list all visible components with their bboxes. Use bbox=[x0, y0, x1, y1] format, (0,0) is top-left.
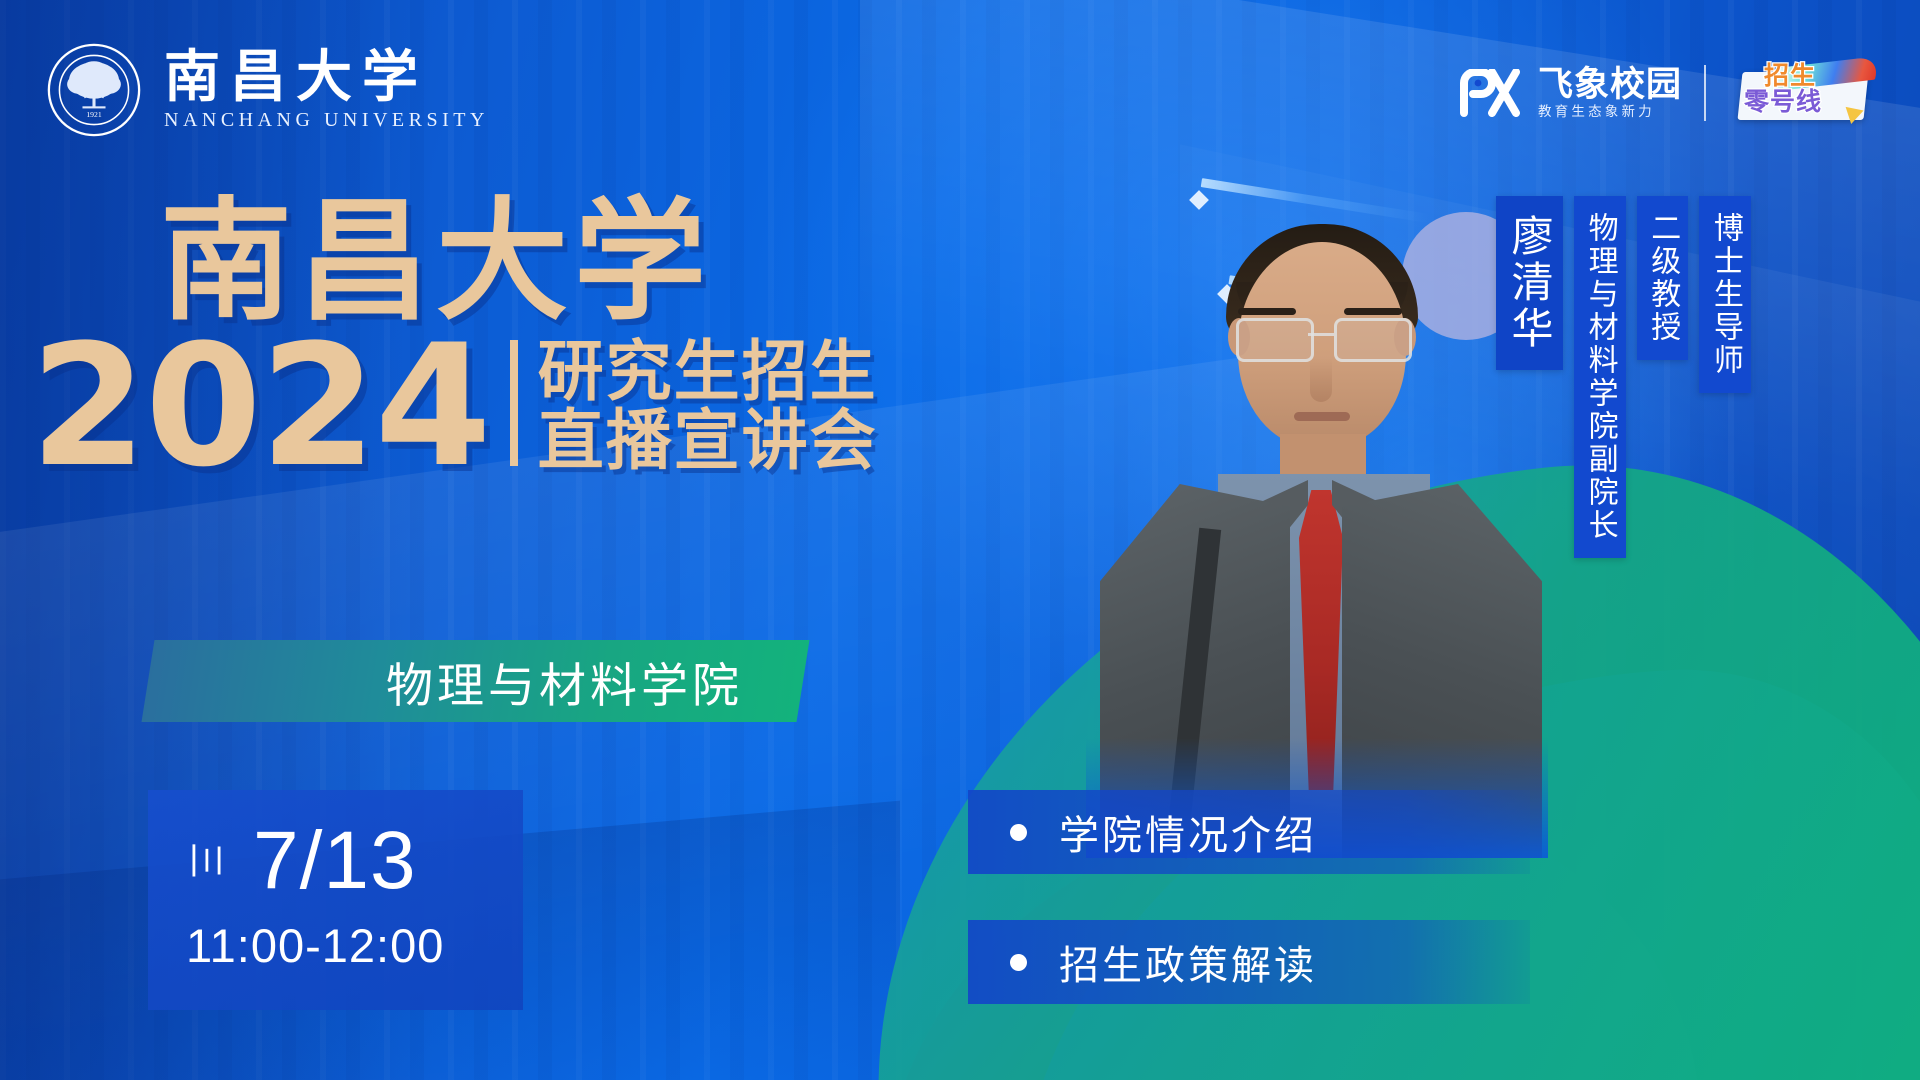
logo-divider bbox=[1704, 65, 1706, 121]
feixiang-name: 飞象校园 bbox=[1538, 67, 1682, 102]
feixiang-logo: 飞象校园 教育生态象新力 bbox=[1454, 67, 1682, 119]
speaker-name-tag: 廖清华 bbox=[1496, 196, 1563, 370]
feixiang-tagline: 教育生态象新力 bbox=[1538, 105, 1655, 119]
schedule-date-row: 三 7/13 bbox=[148, 790, 523, 902]
speaker-mouth bbox=[1294, 412, 1350, 421]
title-subtitle-line-2: 直播宣讲会 bbox=[538, 407, 878, 474]
speaker-brow-right bbox=[1344, 308, 1402, 315]
feixiang-mark-icon bbox=[1454, 69, 1524, 117]
title-year: 2024 bbox=[30, 334, 490, 478]
agenda-list: 学院情况介绍 招生政策解读 bbox=[968, 790, 1530, 1004]
speaker-brow-left bbox=[1238, 308, 1296, 315]
schedule-weekday: 三 bbox=[187, 842, 224, 881]
title-divider-bar bbox=[510, 340, 518, 466]
college-banner: 物理与材料学院 bbox=[142, 640, 810, 722]
university-name-en: NANCHANG UNIVERSITY bbox=[164, 109, 489, 132]
title-subtitle-line-1: 研究生招生 bbox=[538, 338, 878, 405]
university-name-cn: 南昌大学 bbox=[164, 49, 489, 105]
main-title-block: 南昌大学 2024 研究生招生 直播宣讲会 bbox=[160, 196, 878, 478]
speaker-rank-tag: 二级教授 bbox=[1637, 196, 1689, 360]
agenda-item: 学院情况介绍 bbox=[968, 790, 1530, 874]
college-banner-label: 物理与材料学院 bbox=[148, 640, 803, 722]
speaker-glasses-bridge bbox=[1308, 333, 1334, 336]
badge-line-2: 零号线 bbox=[1744, 90, 1822, 115]
speaker-lens-left bbox=[1236, 318, 1314, 362]
agenda-item-label: 学院情况介绍 bbox=[1059, 803, 1317, 861]
university-emblem-icon: 1921 bbox=[46, 42, 142, 138]
header: 1921 南昌大学 NANCHANG UNIVERSITY 飞象校园 bbox=[0, 0, 1920, 170]
speaker-position-tag: 物理与材料学院副院长 bbox=[1574, 196, 1626, 558]
feixiang-text: 飞象校园 教育生态象新力 bbox=[1538, 67, 1682, 119]
schedule-time: 11:00-12:00 bbox=[148, 918, 523, 973]
university-logo: 1921 南昌大学 NANCHANG UNIVERSITY bbox=[46, 42, 489, 138]
speaker-credentials: 廖清华 物理与材料学院副院长 二级教授 博士生导师 bbox=[1496, 196, 1751, 558]
speaker-photo bbox=[1086, 198, 1548, 858]
agenda-item: 招生政策解读 bbox=[968, 920, 1530, 1004]
schedule-date: 7/13 bbox=[253, 820, 417, 902]
title-subtitle-group: 研究生招生 直播宣讲会 bbox=[538, 338, 878, 475]
speaker-glasses-icon bbox=[1232, 318, 1412, 358]
title-second-row: 2024 研究生招生 直播宣讲会 bbox=[30, 334, 878, 478]
poster-root: 1921 南昌大学 NANCHANG UNIVERSITY 飞象校园 bbox=[0, 0, 1920, 1080]
bullet-dot-icon bbox=[1010, 824, 1027, 841]
partner-logos: 飞象校园 教育生态象新力 招生 零号线 bbox=[1454, 56, 1878, 130]
enrollment-badge: 招生 零号线 bbox=[1728, 56, 1878, 130]
badge-line-1: 招生 bbox=[1764, 64, 1816, 89]
speaker-nose bbox=[1310, 358, 1332, 402]
speaker-credential-tag: 博士生导师 bbox=[1699, 196, 1751, 393]
speaker-lens-right bbox=[1334, 318, 1412, 362]
bullet-dot-icon bbox=[1010, 954, 1027, 971]
schedule-block: 三 7/13 11:00-12:00 bbox=[148, 790, 523, 1010]
agenda-item-label: 招生政策解读 bbox=[1059, 933, 1317, 991]
svg-text:1921: 1921 bbox=[86, 110, 102, 119]
university-wordmark: 南昌大学 NANCHANG UNIVERSITY bbox=[164, 49, 489, 132]
